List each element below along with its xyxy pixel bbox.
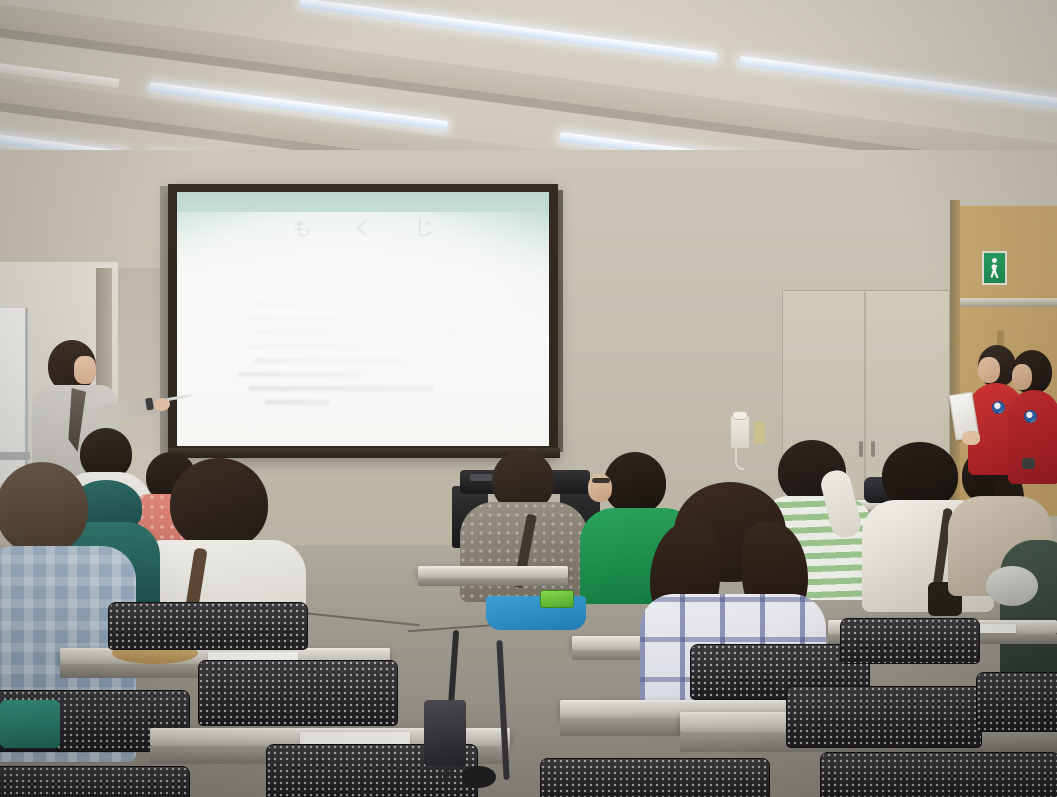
emergency-exit-icon <box>982 251 1007 285</box>
seminar-room-photo: も く じ <box>0 0 1057 797</box>
slide-title: も く じ <box>177 214 549 241</box>
chair-right-2[interactable] <box>840 618 980 664</box>
staff-member-red-shirt-right <box>1008 350 1057 480</box>
light-strip-1b <box>739 56 1057 108</box>
handout-paper-4[interactable] <box>300 732 410 744</box>
chair-bottom-1[interactable] <box>540 758 770 797</box>
attendee-reaching-arm <box>826 470 856 540</box>
desk-mid-left-front <box>418 578 568 586</box>
staff-badge <box>992 401 1005 414</box>
chair-right-3[interactable] <box>786 686 982 748</box>
teal-bag <box>0 700 60 748</box>
wall-telephone[interactable] <box>730 415 750 449</box>
chair-right-4[interactable] <box>976 672 1057 732</box>
projection-screen: も く じ <box>168 184 558 456</box>
whiteboard-tray <box>0 452 30 460</box>
attendee-dark-top-far-right <box>1000 540 1057 680</box>
hand <box>962 431 980 445</box>
desk-mid-left <box>418 566 568 578</box>
face <box>1012 364 1032 390</box>
glasses-icon <box>592 478 610 483</box>
wall-shelf <box>960 298 1057 307</box>
presenter-face <box>74 356 96 384</box>
pointer-stick <box>166 394 192 401</box>
slide-body-lines <box>233 288 463 414</box>
mobility-seat <box>424 700 466 766</box>
caster-wheel-1 <box>462 766 496 788</box>
telephone-handset-icon[interactable] <box>732 411 748 420</box>
chair-bottom-2[interactable] <box>820 752 1057 797</box>
projected-slide: も く じ <box>177 192 549 446</box>
face <box>978 357 1000 383</box>
chair-front-5[interactable] <box>0 766 190 797</box>
head <box>170 458 268 550</box>
wristwatch <box>1022 458 1035 469</box>
green-box-on-desk <box>540 590 574 608</box>
dark-green-top <box>1000 540 1057 680</box>
chair-front-3[interactable] <box>198 660 398 726</box>
head <box>0 462 88 554</box>
telephone-cord <box>735 448 744 470</box>
white-object-right <box>986 566 1038 606</box>
staff-badge <box>1024 410 1037 423</box>
red-polo-shirt <box>1008 390 1057 484</box>
chair-front-1[interactable] <box>108 602 308 650</box>
